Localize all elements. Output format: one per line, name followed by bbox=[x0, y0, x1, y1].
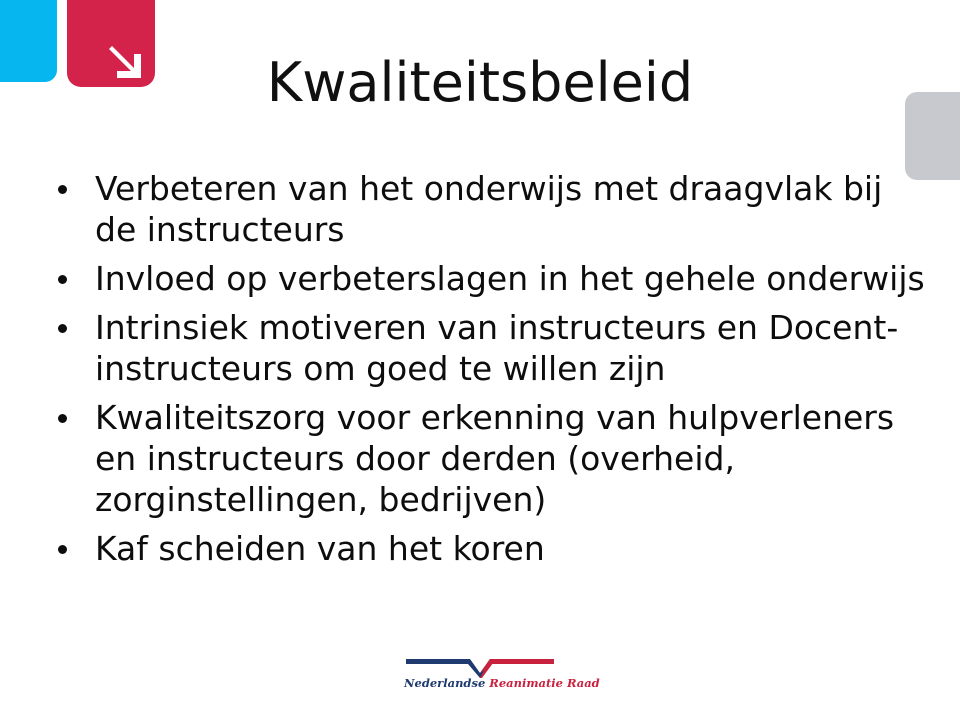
list-item: Kaf scheiden van het koren bbox=[46, 528, 926, 569]
list-item-text: Verbeteren van het onderwijs met draagvl… bbox=[95, 168, 926, 250]
bullet-dot-icon bbox=[58, 545, 67, 554]
heartbeat-bar-icon bbox=[404, 656, 556, 678]
list-item-text: Invloed op verbeterslagen in het gehele … bbox=[95, 258, 926, 299]
list-item-text: Kaf scheiden van het koren bbox=[95, 528, 926, 569]
footer-logo: Nederlandse Reanimatie Raad bbox=[404, 652, 556, 696]
bullet-dot-icon bbox=[58, 414, 67, 423]
list-item-text: Intrinsiek motiveren van instructeurs en… bbox=[95, 307, 926, 389]
logo-blue-square bbox=[0, 0, 57, 82]
page-title: Kwaliteitsbeleid bbox=[120, 52, 840, 114]
bullet-dot-icon bbox=[58, 275, 67, 284]
slide: Kwaliteitsbeleid Verbeteren van het onde… bbox=[0, 0, 960, 720]
bullet-list: Verbeteren van het onderwijs met draagvl… bbox=[46, 168, 926, 569]
list-item: Verbeteren van het onderwijs met draagvl… bbox=[46, 168, 926, 250]
right-edge-tab bbox=[905, 92, 960, 180]
footer-wordmark-red: Reanimatie Raad bbox=[489, 676, 599, 690]
list-item: Invloed op verbeterslagen in het gehele … bbox=[46, 258, 926, 299]
bullet-dot-icon bbox=[58, 324, 67, 333]
bullet-dot-icon bbox=[58, 185, 67, 194]
footer-wordmark: Nederlandse Reanimatie Raad bbox=[404, 676, 556, 690]
list-item-text: Kwaliteitszorg voor erkenning van hulpve… bbox=[95, 397, 926, 520]
list-item: Kwaliteitszorg voor erkenning van hulpve… bbox=[46, 397, 926, 520]
footer-wordmark-blue: Nederlandse bbox=[404, 676, 485, 690]
list-item: Intrinsiek motiveren van instructeurs en… bbox=[46, 307, 926, 389]
